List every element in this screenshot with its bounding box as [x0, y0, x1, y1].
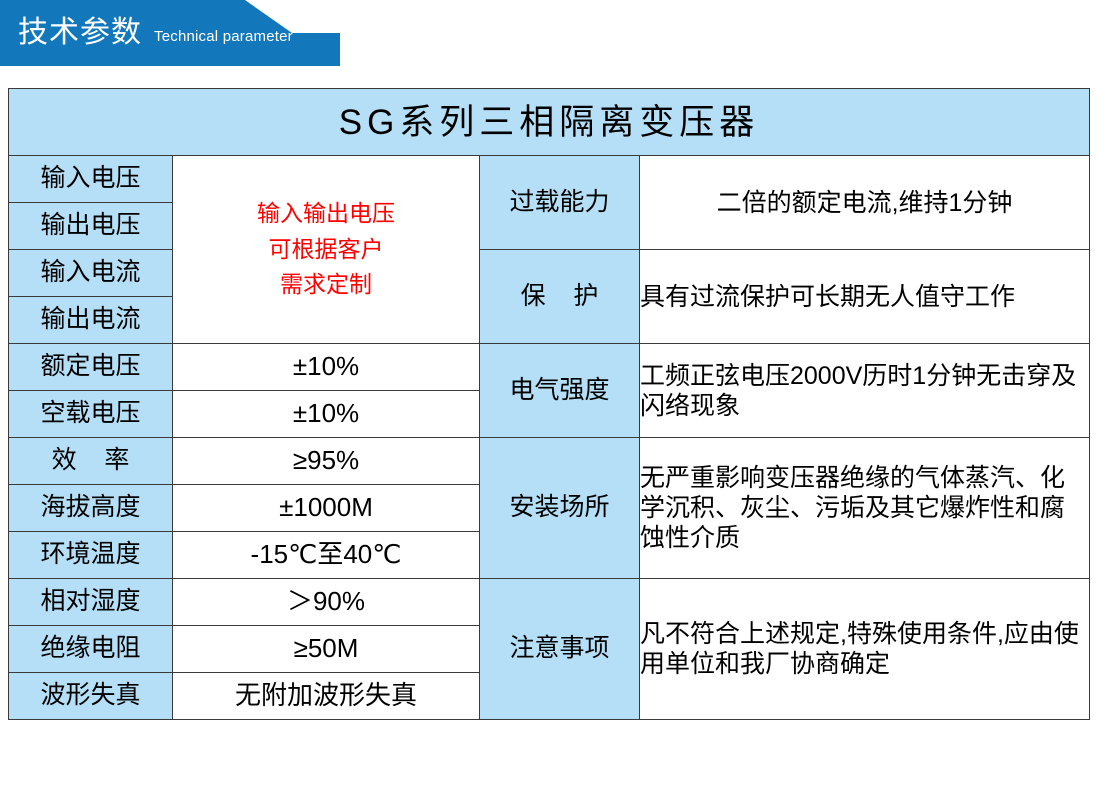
row-label-no-load-voltage: 空载电压 — [9, 391, 173, 438]
row-label-output-current: 输出电流 — [9, 297, 173, 344]
product-title-cell: SG系列三相隔离变压器 — [9, 89, 1090, 156]
custom-voltage-note: 输入输出电压可根据客户需求定制 — [257, 200, 395, 297]
row-value-installation-site: 无严重影响变压器绝缘的气体蒸汽、化学沉积、灰尘、污垢及其它爆炸性和腐蚀性介质 — [640, 438, 1090, 579]
row-value-ambient-temperature: -15℃至40℃ — [173, 532, 480, 579]
table-row: 额定电压 ±10% 电气强度 工频正弦电压2000V历时1分钟无击穿及闪络现象 — [9, 344, 1090, 391]
row-value-altitude: ±1000M — [173, 485, 480, 532]
row-value-precautions: 凡不符合上述规定,特殊使用条件,应由使用单位和我厂协商确定 — [640, 579, 1090, 720]
banner-title-english: Technical parameter — [154, 29, 293, 44]
row-value-waveform-distortion: 无附加波形失真 — [173, 673, 480, 720]
row-label-electrical-strength: 电气强度 — [480, 344, 640, 438]
row-label-waveform-distortion: 波形失真 — [9, 673, 173, 720]
row-value-no-load-voltage: ±10% — [173, 391, 480, 438]
row-value-rated-voltage: ±10% — [173, 344, 480, 391]
row-label-overload-capacity: 过载能力 — [480, 156, 640, 250]
row-label-output-voltage: 输出电压 — [9, 203, 173, 250]
page-header-banner: 技术参数 Technical parameter — [0, 0, 1100, 66]
row-label-precautions: 注意事项 — [480, 579, 640, 720]
table-row: 相对湿度 ＞90% 注意事项 凡不符合上述规定,特殊使用条件,应由使用单位和我厂… — [9, 579, 1090, 626]
banner-text-group: 技术参数 Technical parameter — [0, 0, 293, 66]
table-row: 输入电流 保 护 具有过流保护可长期无人值守工作 — [9, 250, 1090, 297]
spec-table-container: SG系列三相隔离变压器 输入电压 输入输出电压可根据客户需求定制 过载能力 二倍… — [8, 88, 1089, 720]
custom-voltage-note-cell: 输入输出电压可根据客户需求定制 — [173, 156, 480, 344]
row-label-installation-site: 安装场所 — [480, 438, 640, 579]
row-value-protection: 具有过流保护可长期无人值守工作 — [640, 250, 1090, 344]
row-value-relative-humidity: ＞90% — [173, 579, 480, 626]
table-row: 效 率 ≥95% 安装场所 无严重影响变压器绝缘的气体蒸汽、化学沉积、灰尘、污垢… — [9, 438, 1090, 485]
row-label-efficiency: 效 率 — [9, 438, 173, 485]
row-value-electrical-strength: 工频正弦电压2000V历时1分钟无击穿及闪络现象 — [640, 344, 1090, 438]
row-label-insulation-resistance: 绝缘电阻 — [9, 626, 173, 673]
row-value-insulation-resistance: ≥50M — [173, 626, 480, 673]
table-title-row: SG系列三相隔离变压器 — [9, 89, 1090, 156]
row-label-input-current: 输入电流 — [9, 250, 173, 297]
row-label-relative-humidity: 相对湿度 — [9, 579, 173, 626]
row-label-ambient-temperature: 环境温度 — [9, 532, 173, 579]
table-row: 输入电压 输入输出电压可根据客户需求定制 过载能力 二倍的额定电流,维持1分钟 — [9, 156, 1090, 203]
row-label-input-voltage: 输入电压 — [9, 156, 173, 203]
row-label-protection: 保 护 — [480, 250, 640, 344]
specification-table: SG系列三相隔离变压器 输入电压 输入输出电压可根据客户需求定制 过载能力 二倍… — [8, 88, 1090, 720]
row-value-efficiency: ≥95% — [173, 438, 480, 485]
product-title: SG系列三相隔离变压器 — [339, 103, 760, 142]
row-value-overload-capacity: 二倍的额定电流,维持1分钟 — [640, 156, 1090, 250]
row-label-rated-voltage: 额定电压 — [9, 344, 173, 391]
banner-title-chinese: 技术参数 — [18, 18, 142, 48]
row-label-altitude: 海拔高度 — [9, 485, 173, 532]
